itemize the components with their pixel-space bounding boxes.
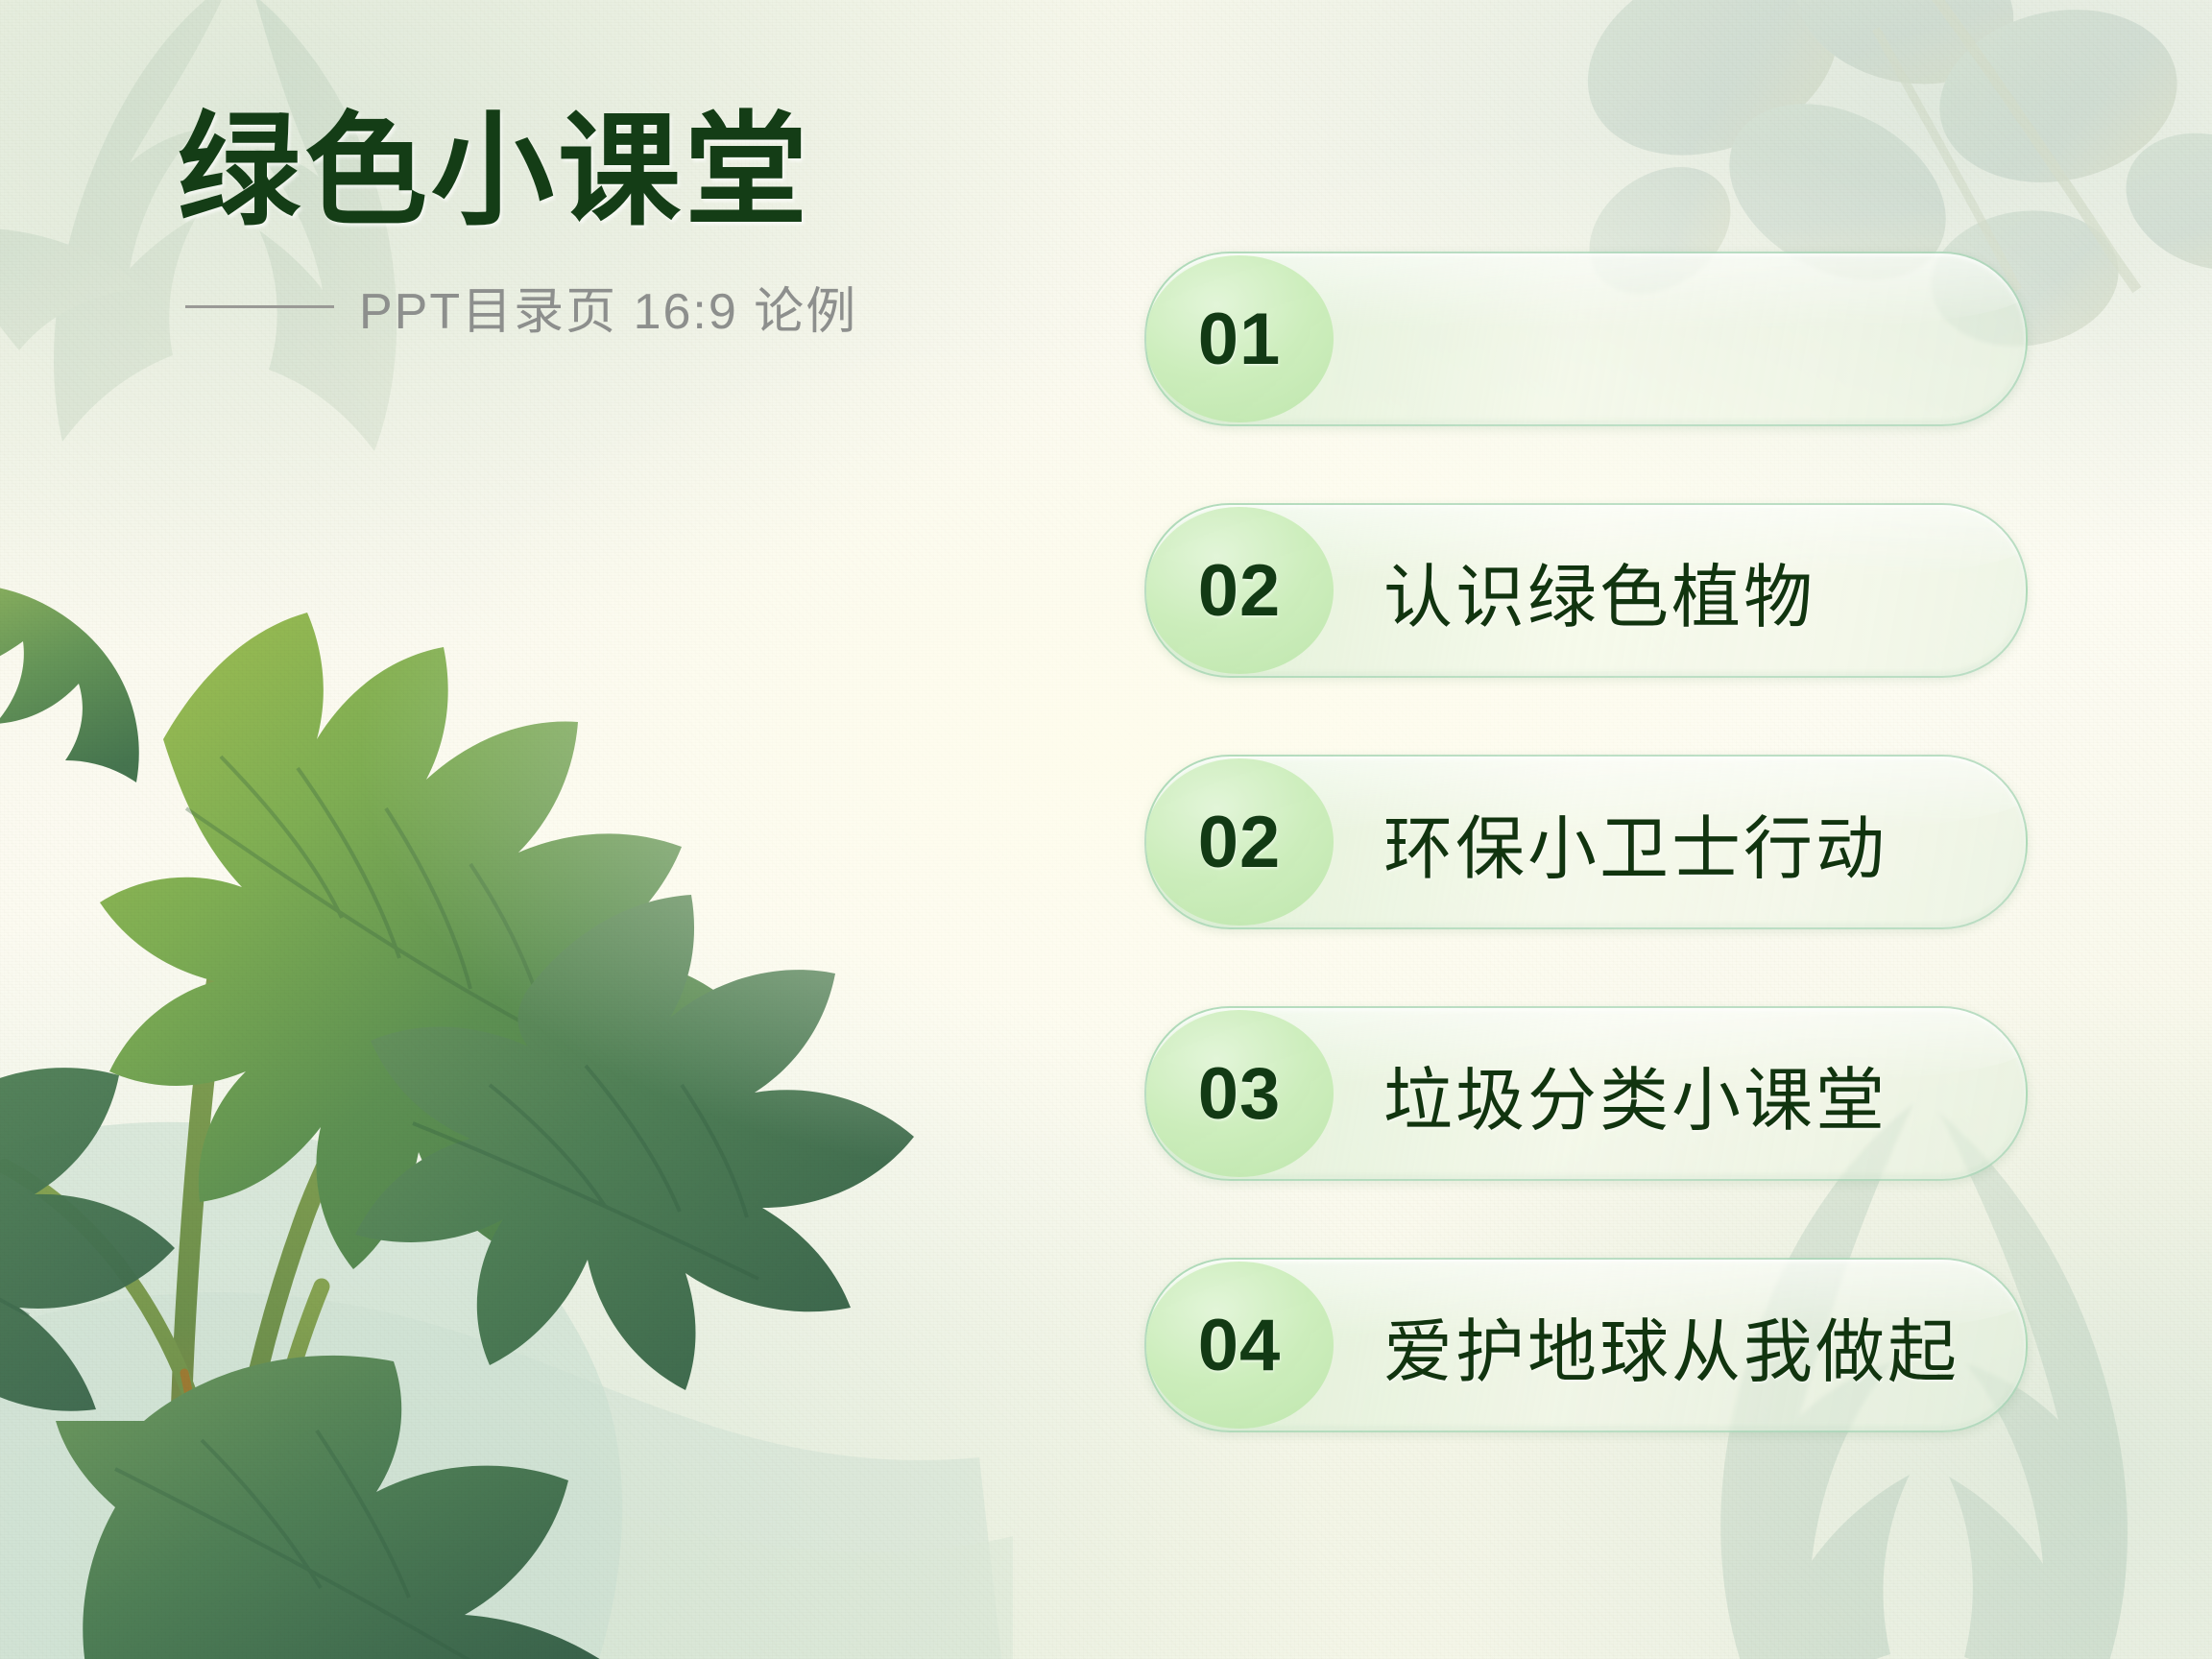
toc-item-4[interactable]: 03 垃圾分类小课堂 bbox=[1144, 1006, 2028, 1181]
toc-number: 04 bbox=[1198, 1304, 1282, 1387]
toc-label: 垃圾分类小课堂 bbox=[1383, 1044, 1887, 1144]
toc-number-badge: 02 bbox=[1145, 507, 1334, 674]
toc-label: 爱护地球从我做起 bbox=[1383, 1295, 1960, 1396]
toc-item-3[interactable]: 02 环保小卫士行动 bbox=[1144, 755, 2028, 929]
page-subtitle: PPT目录页 16:9 论例 bbox=[359, 271, 857, 343]
slide-canvas: 绿色小课堂 PPT目录页 16:9 论例 01 02 认识绿色植物 02 环保小… bbox=[0, 0, 2212, 1659]
subtitle-row: PPT目录页 16:9 论例 bbox=[185, 271, 1099, 343]
toc-item-2[interactable]: 02 认识绿色植物 bbox=[1144, 503, 2028, 678]
toc-number: 01 bbox=[1198, 298, 1282, 381]
toc-number: 03 bbox=[1198, 1052, 1282, 1136]
toc-number: 02 bbox=[1198, 549, 1282, 633]
toc-label: 认识绿色植物 bbox=[1383, 541, 1815, 641]
toc-label: 环保小卫士行动 bbox=[1383, 792, 1887, 893]
toc-item-1[interactable]: 01 bbox=[1144, 252, 2028, 426]
toc-number-badge: 02 bbox=[1145, 758, 1334, 926]
table-of-contents: 01 02 认识绿色植物 02 环保小卫士行动 03 垃圾分类小课堂 04 bbox=[1144, 252, 2028, 1432]
toc-number: 02 bbox=[1198, 801, 1282, 884]
headline-block: 绿色小课堂 PPT目录页 16:9 论例 bbox=[178, 106, 1099, 343]
toc-number-badge: 01 bbox=[1145, 255, 1334, 422]
toc-number-badge: 04 bbox=[1145, 1262, 1334, 1429]
page-title: 绿色小课堂 bbox=[178, 106, 1099, 238]
toc-item-5[interactable]: 04 爱护地球从我做起 bbox=[1144, 1258, 2028, 1432]
subtitle-rule-line bbox=[185, 305, 334, 308]
toc-number-badge: 03 bbox=[1145, 1010, 1334, 1177]
